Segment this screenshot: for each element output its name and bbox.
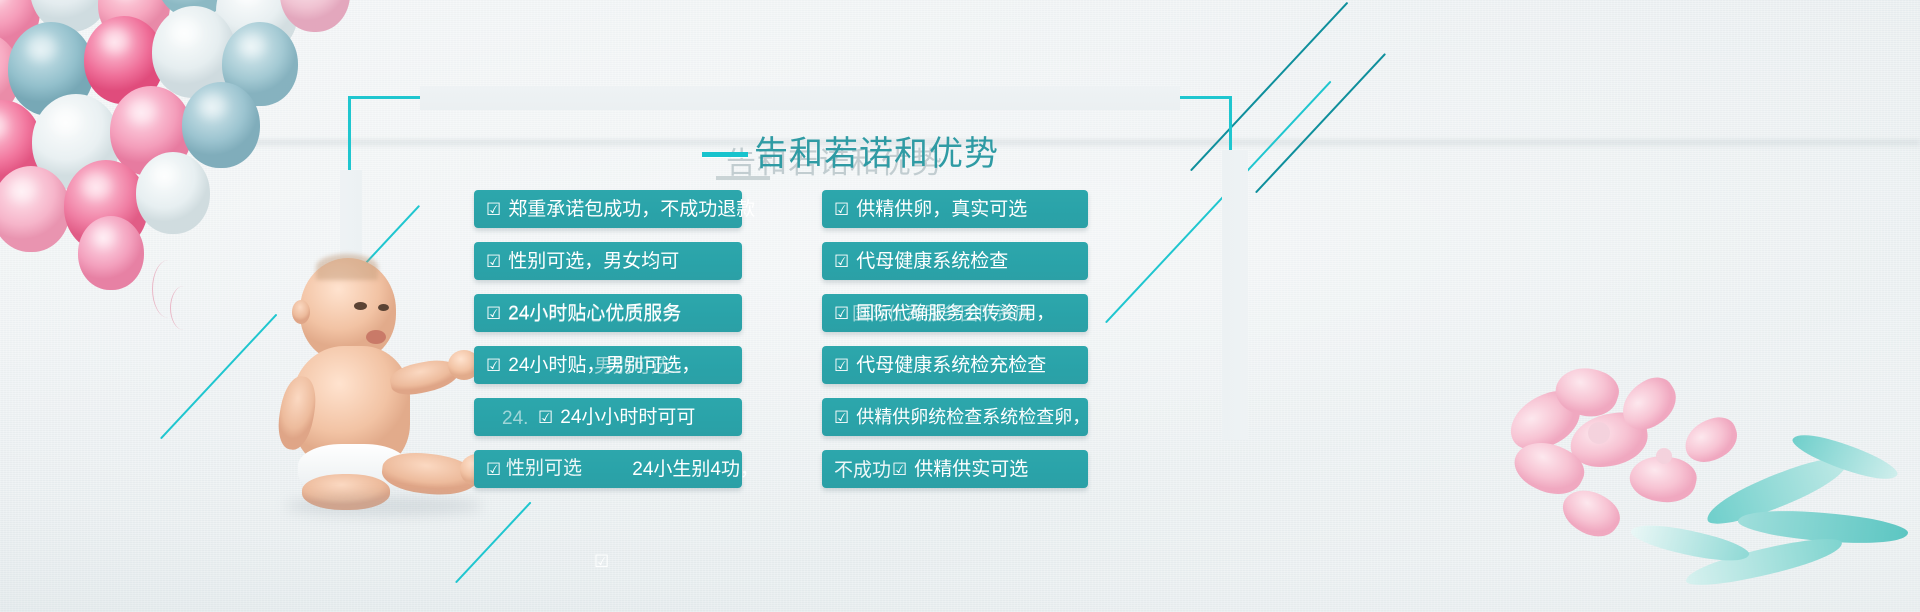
benefit-label: 代母健康系统检查: [856, 252, 1008, 271]
balloon-cluster: [0, 0, 380, 290]
benefits-column-left: ☑ 郑重承诺包成功，不成功退款 ☑ 性别可选，男女均可 ☑ 24小时贴心优质服务…: [474, 190, 746, 502]
benefit-pill[interactable]: ☑ 供精供卵统检查系统检查卵，: [822, 398, 1088, 436]
balloon: [0, 166, 70, 252]
benefit-label: 24小时贴心优质服务: [508, 304, 681, 323]
baby-eye: [378, 304, 389, 311]
page-title: 告和若诺和优势: [702, 130, 1122, 178]
benefit-label: 供精供卵统检查系统检查卵，: [856, 408, 1090, 426]
benefit-pill[interactable]: ☑ 供精供卵，真实可选: [822, 190, 1088, 228]
check-icon: ☑: [834, 253, 849, 270]
check-icon: ☑: [834, 201, 849, 218]
benefit-label: 代母健康系统检充检查: [856, 356, 1046, 375]
balloon: [136, 152, 210, 234]
check-icon: ☑: [594, 552, 609, 572]
benefit-label: 24小小时时可可: [560, 408, 695, 427]
balloon: [182, 82, 260, 168]
page-title-text: 告和若诺和优势: [754, 134, 999, 174]
flower-petal: [1679, 412, 1743, 468]
baby-shadow: [286, 496, 482, 516]
benefit-pill[interactable]: ☑ 性别可选 24小生别4功，: [474, 450, 742, 488]
check-icon: ☑: [486, 461, 501, 478]
benefit-label: 供精供实可选: [914, 460, 1028, 479]
benefit-pill[interactable]: ☑ 代母健康系统检查: [822, 242, 1088, 280]
check-icon: ☑: [834, 357, 849, 374]
benefit-label: 供精供卵，真实可选: [856, 200, 1027, 219]
baby-photo: [262, 258, 494, 514]
check-icon: ☑: [834, 409, 849, 426]
benefit-pill[interactable]: 不成功 ☑ 供精供实可选: [822, 450, 1088, 488]
benefit-pill[interactable]: ☑ 24小时贴心优质服务 24小时贴心优质服务: [474, 294, 742, 332]
balloon-string: [170, 286, 197, 330]
benefit-pill[interactable]: ☑ 国际代确服务会传资用， 国际优秀服务团队资质: [822, 294, 1088, 332]
flower-center: [1588, 422, 1610, 444]
benefit-label-ghost: 不成功: [834, 461, 891, 480]
balloon: [78, 216, 144, 290]
frame-mask-right: [1222, 150, 1248, 440]
frame-mask-top: [420, 86, 1180, 110]
check-icon: ☑: [486, 305, 501, 322]
check-icon: ☑: [486, 201, 501, 218]
benefit-pill[interactable]: ☑ 代母健康系统检充检查: [822, 346, 1088, 384]
benefit-label: 性别可选，男女均可: [508, 252, 679, 271]
benefit-pill[interactable]: ☑ 郑重承诺包成功，不成功退款: [474, 190, 742, 228]
check-icon: ☑: [486, 357, 501, 374]
benefit-pill[interactable]: ☑ 性别可选，男女均可: [474, 242, 742, 280]
check-icon: ☑: [834, 305, 849, 322]
benefit-label-ghost: 24.: [502, 409, 528, 428]
check-icon: ☑: [892, 461, 907, 478]
benefit-label: 国际代确服务会传资用，: [856, 304, 1054, 322]
flower-center: [1656, 448, 1672, 464]
banner-stage: 告和若诺和优势 告和若诺和优势 ☑ 郑重承诺包成功，不成功退款 ☑ 性别可选，男…: [0, 0, 1920, 612]
check-icon: ☑: [486, 253, 501, 270]
benefit-pill[interactable]: ☑ 24小时贴，男别可选， 男别可选: [474, 346, 742, 384]
baby-eye: [354, 302, 367, 310]
baby-mouth: [366, 330, 386, 344]
flower-ribbon: [1470, 352, 1920, 612]
benefit-pill[interactable]: 24. ☑ 24小小时时可可: [474, 398, 742, 436]
baby-ear: [292, 300, 310, 324]
title-dash: [702, 152, 748, 157]
benefits-column-right: ☑ 供精供卵，真实可选 ☑ 代母健康系统检查 ☑ 国际代确服务会传资用， 国际优…: [822, 190, 1090, 502]
baby-hair: [316, 254, 378, 280]
benefit-label-ghost: 性别可选: [506, 459, 582, 478]
benefit-label: 郑重承诺包成功，不成功退款: [508, 200, 755, 219]
benefit-label: 24小时贴，男别可选，: [508, 356, 700, 375]
check-icon: ☑: [538, 409, 553, 426]
benefit-label: 24小生别4功，: [632, 460, 759, 479]
